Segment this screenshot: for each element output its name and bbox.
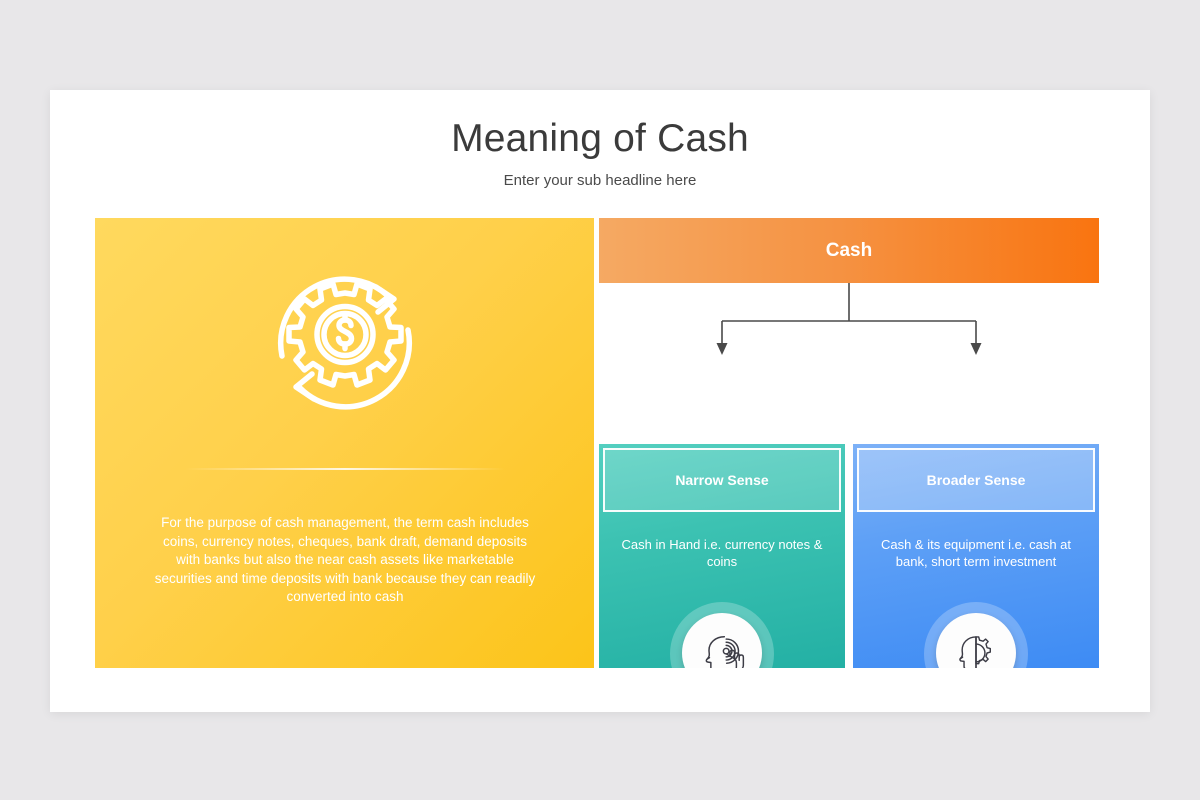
diagram-root-label: Cash	[826, 240, 872, 262]
branch-header-label: Narrow Sense	[675, 472, 768, 488]
left-yellow-panel: For the purpose of cash management, the …	[95, 218, 594, 668]
panel-divider	[185, 468, 505, 470]
branch-icon-wrap-broader-sense	[924, 602, 1028, 668]
slide-canvas: Meaning of Cash Enter your sub headline …	[50, 90, 1150, 712]
page-subtitle: Enter your sub headline here	[50, 172, 1150, 189]
branch-card-narrow-sense[interactable]: Narrow Sense Cash in Hand i.e. currency …	[599, 444, 845, 668]
branch-card-broader-sense[interactable]: Broader Sense Cash & its equipment i.e. …	[853, 444, 1099, 668]
branch-description-broader-sense: Cash & its equipment i.e. cash at bank, …	[869, 536, 1083, 570]
diagram-column: Cash Narrow Sense Cash in Hand i.e. curr…	[599, 218, 1099, 668]
branch-header-narrow-sense: Narrow Sense	[603, 448, 841, 512]
branch-icon-wrap-narrow-sense	[670, 602, 774, 668]
left-panel-body-text: For the purpose of cash management, the …	[150, 514, 540, 607]
gear-dollar-refresh-icon	[258, 260, 432, 425]
branch-header-label: Broader Sense	[927, 472, 1026, 488]
branch-description-narrow-sense: Cash in Hand i.e. currency notes & coins	[615, 536, 829, 570]
page-title: Meaning of Cash	[50, 117, 1150, 161]
diagram-root-node[interactable]: Cash	[599, 218, 1099, 283]
diagram-connector	[599, 283, 1099, 356]
branch-header-broader-sense: Broader Sense	[857, 448, 1095, 512]
